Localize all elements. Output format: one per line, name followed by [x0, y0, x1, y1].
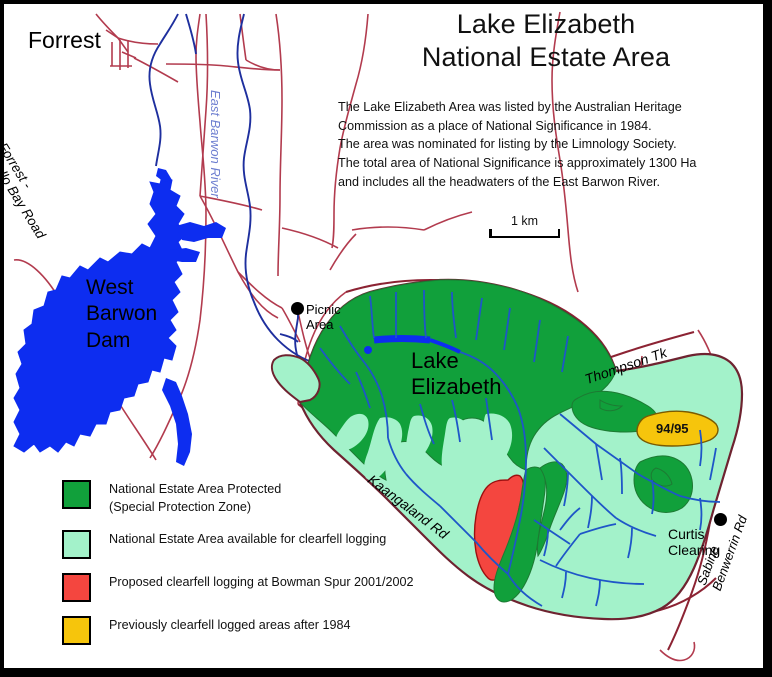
map-title-line1: Lake Elizabeth	[336, 8, 756, 41]
legend-item-proposed: Proposed clearfell logging at Bowman Spu…	[62, 573, 414, 603]
legend-swatch-previously-logged	[62, 616, 91, 645]
label-east-barwon-river: East Barwon River	[207, 90, 222, 198]
legend-swatch-proposed	[62, 573, 91, 602]
legend-swatch-available	[62, 530, 91, 559]
label-lake-elizabeth: Lake Elizabeth	[411, 348, 502, 401]
description-line: Commission as a place of National Signif…	[338, 117, 752, 136]
legend-label-available: National Estate Area available for clear…	[109, 530, 386, 549]
map-page: Lake Elizabeth National Estate Area The …	[0, 0, 772, 677]
legend-label-previously-logged: Previously clearfell logged areas after …	[109, 616, 351, 635]
description-line: and includes all the headwaters of the E…	[338, 173, 752, 192]
label-forrest: Forrest	[28, 28, 101, 54]
scale-tick-right	[558, 229, 561, 238]
scale-bar: 1 km	[489, 214, 560, 238]
description-block: The Lake Elizabeth Area was listed by th…	[338, 98, 752, 191]
map-title-line2: National Estate Area	[336, 41, 756, 74]
label-picnic-area: Picnic Area	[306, 303, 341, 332]
picnic-area-marker	[291, 302, 304, 315]
legend: National Estate Area Protected (Special …	[62, 480, 414, 659]
legend-label-proposed: Proposed clearfell logging at Bowman Spu…	[109, 573, 414, 592]
label-west-barwon-dam: West Barwon Dam	[86, 275, 157, 354]
scale-bar-label: 1 km	[489, 214, 560, 228]
title-block: Lake Elizabeth National Estate Area	[336, 8, 756, 74]
legend-item-available: National Estate Area available for clear…	[62, 530, 414, 560]
label-logged-patch-year: 94/95	[656, 422, 689, 437]
description-line: The area was nominated for listing by th…	[338, 135, 752, 154]
curtis-clearing-marker	[714, 513, 727, 526]
legend-item-protected: National Estate Area Protected (Special …	[62, 480, 414, 517]
legend-item-previously-logged: Previously clearfell logged areas after …	[62, 616, 414, 646]
scale-bar-line	[489, 236, 560, 239]
legend-swatch-protected	[62, 480, 91, 509]
legend-label-protected: National Estate Area Protected (Special …	[109, 480, 281, 517]
description-line: The total area of National Significance …	[338, 154, 752, 173]
scale-bar-graphic	[489, 229, 560, 238]
description-line: The Lake Elizabeth Area was listed by th…	[338, 98, 752, 117]
